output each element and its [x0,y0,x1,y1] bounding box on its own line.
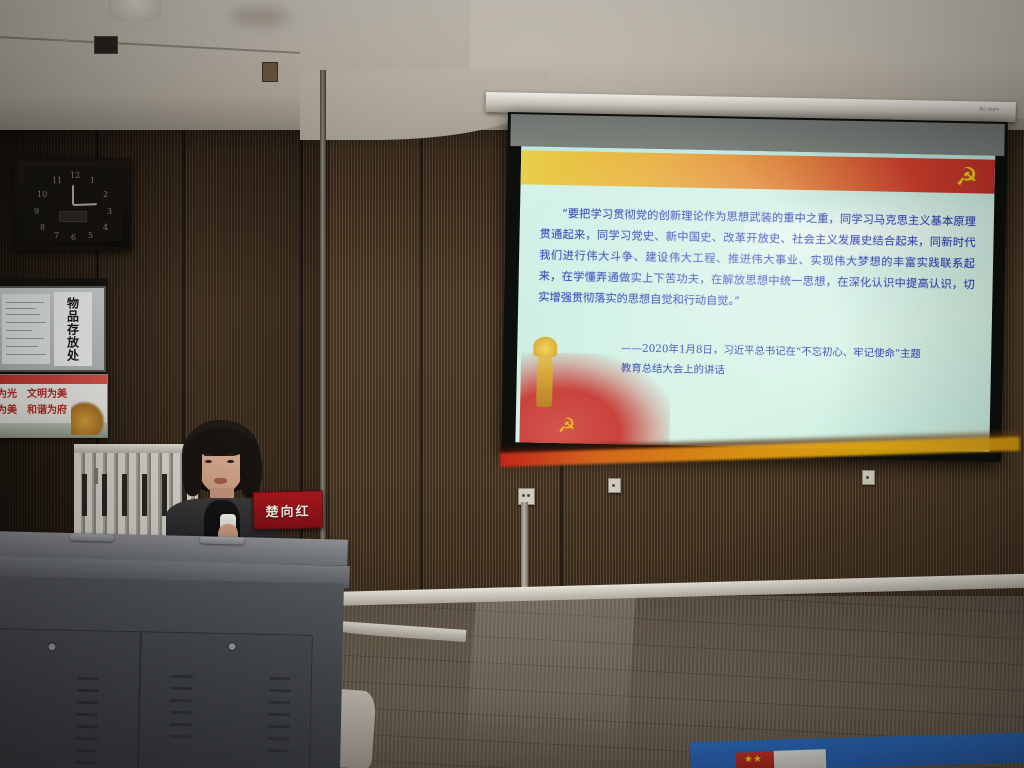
cabinet-vent [76,737,98,740]
cabinet-vent [170,699,192,702]
cabinet-vent [170,723,192,726]
person-eye [205,460,212,463]
outlet-socket-hole [527,494,530,497]
cabinet-vent [171,675,193,678]
cabinet-vent [268,701,290,704]
clock-numeral: 6 [71,233,76,242]
ceiling-light-fixture [108,0,162,22]
cabinet-vent [75,749,97,752]
radiator-gap [122,474,127,516]
cabinet-vent [77,677,99,680]
slide-torch-flame [533,337,557,357]
doc-line [6,322,46,323]
person-eyebrow [226,454,235,456]
clock-numeral: 10 [37,190,47,199]
clock-numeral: 8 [40,223,45,232]
cabinet-vent [269,677,291,680]
power-outlet-icon [862,470,875,485]
clock-numeral: 3 [107,207,112,216]
banner-torch-art [71,401,105,435]
slide-quote-text: “要把学习贯彻党的创新理论作为思想武装的重中之重，同学习马克思主义基本原理贯通起… [538,203,976,317]
doc-line [6,330,32,331]
podium-handle[interactable] [200,536,244,544]
wall-conduit-pipe [320,70,326,540]
ceiling-stain [230,8,290,26]
clock-numeral: 5 [88,231,93,240]
cabinet-door-right[interactable] [138,631,313,768]
person-mouth [214,478,227,484]
cabinet-vent [267,749,289,752]
doc-line [6,354,46,355]
doc-line [6,302,44,303]
storage-area-sign: 物品存放处 [54,292,92,366]
outlet-socket-hole [612,484,615,487]
cabinet-vent [171,687,193,690]
hanging-cable [52,36,212,54]
banner-red-stripe [0,375,107,384]
clock-numeral: 11 [52,176,62,185]
keyhole-icon[interactable] [227,642,236,651]
wall-junction-box [94,36,118,54]
hammer-and-sickle-icon: ☭ [953,164,982,191]
clock-numeral: 2 [103,190,108,199]
doc-line [6,314,40,315]
outlet-socket-hole [522,494,525,497]
clock-numeral: 4 [103,223,108,232]
notice-board: 物品存放处 [0,286,106,372]
cabinet-vent [170,735,192,738]
nameplate: 楚向红 [253,490,324,529]
cabinet-vent [76,701,98,704]
clock-date-window [59,211,87,222]
wall-banner-poster: 为光 文明为美 为美 和谐为府 [0,374,108,438]
outlet-socket-hole [866,476,869,479]
cabinet-door-left[interactable] [0,628,141,768]
podium-cabinet [0,576,344,768]
red-card: ★★ [736,751,777,768]
presentation-slide: ☭ “要把学习贯彻党的创新理论作为思想武装的重中之重，同学习马克思主义基本原理贯… [515,146,995,451]
radiator-gap [142,474,147,516]
star-icon: ★★ [744,755,762,766]
slide-quote-body: “要把学习贯彻党的创新理论作为思想武装的重中之重，同学习马克思主义基本原理贯通起… [538,207,976,308]
banner-line-1: 为光 文明为美 [0,387,67,403]
slide-attribution-line-2: 教育总结大会上的讲话 [621,358,996,387]
notice-board-document [2,294,50,364]
person-hair-left [182,438,202,496]
podium-handle[interactable] [70,533,114,541]
wall-panel-seam [420,90,423,610]
banner-line-2: 为美 和谐为府 [0,403,67,419]
radiator-gap [102,474,107,516]
cabinet-vent [269,689,291,692]
projector-screen: ☭ “要把学习贯彻党的创新理论作为思想武装的重中之重，同学习马克思主义基本原理贯… [501,112,1008,462]
storage-sign-label: 物品存放处 [65,297,82,362]
wall-clock: 12 1 2 3 4 5 6 7 8 9 10 11 [14,158,132,250]
slide-torch-art [536,349,553,407]
cabinet-vent [76,725,98,728]
cabinet-vent [76,713,98,716]
cabinet-vent [268,713,290,716]
screen-brand-label: Screen [979,106,999,112]
clock-numeral: 12 [70,171,80,180]
keyhole-icon[interactable] [47,642,56,651]
cabinet-vent [268,737,290,740]
nameplate-label: 楚向红 [265,500,310,520]
cabinet-vent [170,711,192,714]
cabinet-vent [75,761,97,764]
clock-numeral: 9 [34,207,39,216]
person-eye [227,460,234,463]
radiator-valve [94,468,98,484]
clock-numeral: 7 [54,231,59,240]
white-card [774,749,827,768]
doc-line [6,308,36,309]
cabinet-vent [77,689,99,692]
clock-numeral: 1 [90,176,95,185]
lecture-hall-photo: 12 1 2 3 4 5 6 7 8 9 10 11 [0,0,1024,768]
doc-line [6,346,38,347]
radiator-gap [82,474,87,516]
person-eyebrow [204,454,213,456]
clock-minute-hand [73,203,97,206]
power-outlet-icon [608,478,621,493]
doc-line [6,338,44,339]
slide-flag-emblem-icon: ☭ [557,413,575,437]
clock-hour-hand [72,185,74,205]
wall-speaker-box [262,62,278,82]
clock-face: 12 1 2 3 4 5 6 7 8 9 10 11 [24,167,122,241]
cabinet-vent [268,725,290,728]
